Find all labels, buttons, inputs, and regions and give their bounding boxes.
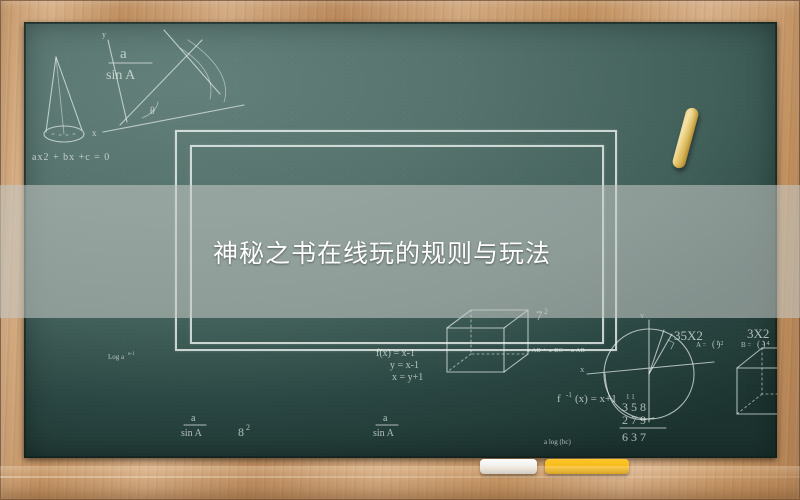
frame-ledge-line — [0, 476, 800, 478]
screenshot-stage: a sin A ax2 + bx +c = 0 y x θ — [0, 0, 800, 500]
page-title: 神秘之书在线玩的规则与玩法 — [213, 234, 551, 270]
label-3x2: 3X2 — [747, 326, 769, 341]
frame-ledge — [0, 466, 800, 500]
title-overlay-band: 神秘之书在线玩的规则与玩法 — [0, 185, 800, 318]
label-35x2: 35X2 — [674, 328, 703, 343]
